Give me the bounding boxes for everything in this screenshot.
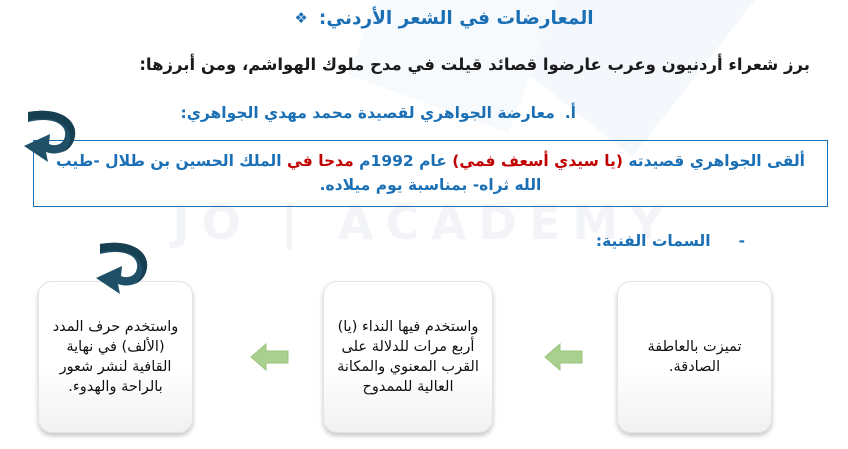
quote-box: ألقى الجواهري قصيدته (يا سيدي أسعف فمي) … [33,140,828,207]
curved-arrow-icon-bottom [88,236,158,302]
flow-arrow-left-icon-2 [248,337,292,377]
chip-alif-rhyme-text: واستخدم حرف المدد (الألف) في نهاية القاف… [48,317,183,397]
artistic-features-label: السمات الفنية: [596,232,711,250]
diamond-bullet-icon: ❖ [294,9,307,27]
list-item-a-label: معارضة الجواهري لقصيدة محمد مهدي الجواهر… [181,104,555,122]
quote-praise-phrase: مدحا في [287,152,354,170]
chip-vocative-ya-text: واستخدم فيها النداء (يا) أربع مرات للدلا… [333,317,483,397]
list-item-a-marker: أ. [565,104,576,122]
page-title: المعارضات في الشعر الأردني: ❖ [0,8,848,29]
list-item-a: أ.معارضة الجواهري لقصيدة محمد مهدي الجوا… [181,104,577,122]
intro-paragraph: برز شعراء أردنيون وعرب عارضوا قصائد قيلت… [20,55,810,74]
quote-part-3: عام 1992م [359,152,447,170]
features-flow: تميزت بالعاطفة الصادقة. واستخدم فيها الن… [0,281,848,441]
flow-arrow-left-icon-1 [542,337,586,377]
artistic-features-dash: - [739,232,745,250]
artistic-features-heading: -السمات الفنية: [596,232,745,250]
quote-poem-title: (يا سيدي أسعف فمي) [452,152,623,170]
chip-alif-rhyme: واستخدم حرف المدد (الألف) في نهاية القاف… [38,281,193,433]
chip-vocative-ya: واستخدم فيها النداء (يا) أربع مرات للدلا… [323,281,493,433]
chip-sincere-emotion: تميزت بالعاطفة الصادقة. [617,281,772,433]
curved-arrow-icon-top [16,104,86,170]
chip-sincere-emotion-text: تميزت بالعاطفة الصادقة. [627,337,762,377]
quote-part-1: ألقى الجواهري قصيدته [628,152,805,170]
page-title-text: المعارضات في الشعر الأردني: [319,8,594,29]
